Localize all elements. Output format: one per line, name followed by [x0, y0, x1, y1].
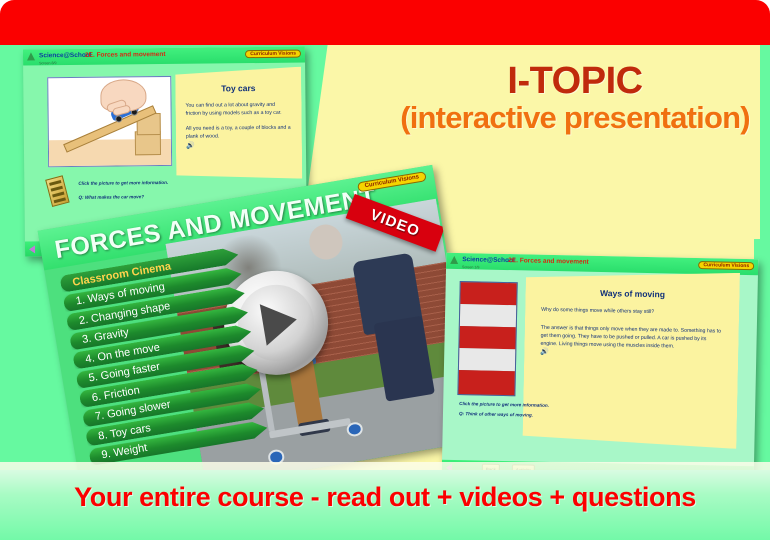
piano-keys-icon[interactable] — [45, 175, 69, 207]
ways-of-moving-note: Ways of moving Why do some things move w… — [522, 268, 740, 448]
cinema-item-6-label: 6. Friction — [91, 384, 141, 404]
toy-cars-question: Q: What makes the car move? — [78, 194, 144, 200]
ways-of-moving-paragraph-2: The answer is that things only move when… — [540, 324, 722, 352]
go-karts-photo[interactable] — [457, 281, 517, 396]
headline-line-2: (interactive presentation) — [395, 102, 755, 134]
screen-number: Screen 1/9 — [462, 265, 479, 269]
toy-cars-hint: Click the picture to get more informatio… — [78, 180, 168, 186]
headline-line-1: I-TOPIC — [395, 62, 755, 102]
previous-arrow-icon[interactable] — [29, 245, 35, 253]
up-arrow-icon[interactable] — [27, 52, 35, 60]
presentation-promo-graphic: I-TOPIC (interactive presentation) Scien… — [0, 0, 770, 540]
toy-cars-note: Toy cars You can find out a lot about gr… — [175, 67, 302, 180]
cinema-item-9-label: 9. Weight — [101, 442, 149, 461]
cinema-item-8-label: 8. Toy cars — [97, 422, 151, 443]
toy-cars-paragraph-1: You can find out a lot about gravity and… — [185, 101, 291, 118]
brand-label: Science@School — [39, 52, 92, 60]
slide-ways-of-moving[interactable]: Science@School 2E. Forces and movement S… — [442, 253, 759, 481]
bottom-banner: Your entire course - read out + videos +… — [0, 482, 770, 513]
screen-number: Screen 8/9 — [39, 61, 56, 65]
ways-of-moving-paragraph-1: Why do some things move while others sta… — [541, 306, 723, 318]
topic-label: 2E. Forces and movement — [85, 51, 166, 59]
speaker-icon[interactable]: 🔊 — [186, 141, 302, 150]
headline-block: I-TOPIC (interactive presentation) — [395, 62, 755, 134]
toy-cars-paragraph-2: All you need is a toy, a couple of block… — [186, 124, 292, 141]
classroom-cinema-menu[interactable]: Classroom Cinema 1. Ways of moving 2. Ch… — [59, 246, 269, 468]
brand-label: Science@School — [462, 256, 515, 264]
topic-label: 2E. Forces and movement — [508, 257, 589, 266]
up-arrow-icon[interactable] — [450, 256, 458, 264]
top-red-band — [0, 0, 770, 46]
toy-cars-title: Toy cars — [175, 83, 301, 94]
curriculum-visions-badge: Curriculum Visions — [245, 49, 301, 58]
slide-header-bar: Science@School 2E. Forces and movement S… — [23, 47, 305, 66]
bottom-banner-text: Your entire course - read out + videos +… — [74, 482, 696, 512]
ways-of-moving-title: Ways of moving — [525, 286, 739, 300]
play-triangle — [260, 299, 300, 346]
kart-row-5 — [458, 370, 515, 396]
toy-car-illustration[interactable] — [47, 76, 172, 167]
curriculum-visions-badge: Curriculum Visions — [698, 261, 754, 270]
cinema-item-3-label: 3. Gravity — [81, 326, 129, 346]
